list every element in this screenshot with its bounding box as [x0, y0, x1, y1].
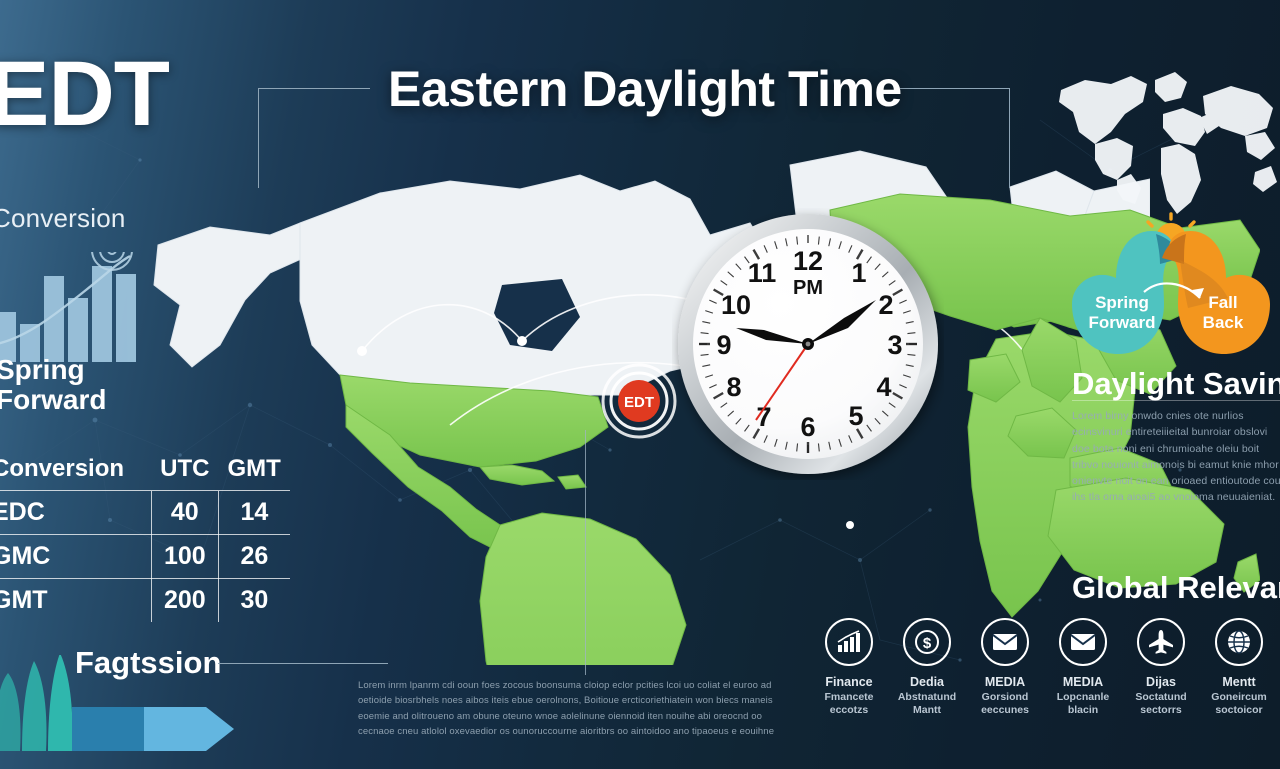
relevance-item[interactable]: MEDIA Gorsiond eeccunes [966, 618, 1044, 758]
row-label: GMT [0, 579, 151, 623]
clock-numeral-1: 1 [851, 258, 866, 288]
table-row: EDC 40 14 [0, 491, 290, 535]
relevance-item[interactable]: MEDIA Lopcnanle blacin [1044, 618, 1122, 758]
clock-numeral-8: 8 [726, 372, 741, 402]
progress-label: Fagtssion [75, 645, 221, 681]
clock-numeral-11: 11 [748, 258, 777, 288]
relevance-caption: Mentt Goneircum soctoicor [1211, 674, 1266, 718]
clock-numeral-2: 2 [878, 290, 893, 320]
title-connector-left [258, 88, 370, 188]
global-relevance-icon-row: Finance Fmancete eccotzs $ Dedia Abstnat… [810, 618, 1280, 758]
caption-line3: eccotzs [830, 704, 869, 716]
relevance-caption: MEDIA Gorsiond eeccunes [981, 674, 1029, 718]
row-utc: 100 [151, 535, 218, 579]
caption-line2: Soctatund [1135, 691, 1186, 703]
clock-numeral-3: 3 [887, 330, 902, 360]
spring-forward-blob: Spring Forward [1072, 231, 1182, 354]
clock-numeral-12: 12 [793, 246, 823, 276]
relevance-caption: Finance Fmancete eccotzs [824, 674, 873, 718]
row-gmt: 14 [218, 491, 290, 535]
table-row: GMC 100 26 [0, 535, 290, 579]
caption-line2: Gorsiond [982, 691, 1029, 703]
title-connector-right [900, 88, 1010, 188]
dst-spring-fall-graphic: Spring Forward Fall Back [1060, 212, 1280, 372]
spring-forward-caption: Spring Forward [0, 355, 106, 415]
clock-meridiem: PM [793, 277, 823, 299]
caption-line2: Lopcnanle [1057, 691, 1110, 703]
fall-label-line1: Fall [1208, 293, 1237, 312]
clock-numeral-4: 4 [876, 372, 891, 402]
caption-line1: Dedia [898, 674, 956, 691]
relevance-caption: Dedia Abstnatund Mantt [898, 674, 956, 718]
envelope-icon [981, 618, 1029, 666]
caption-line1: Dijas [1135, 674, 1186, 691]
caption-line2: Fmancete [824, 691, 873, 703]
bar-chart-icon [825, 618, 873, 666]
progress-connector-line [218, 663, 388, 664]
caption-line1: Finance [824, 674, 873, 691]
spring-forward-caption-line2: Forward [0, 384, 106, 415]
caption-line3: soctoicor [1215, 704, 1262, 716]
mini-world-map [1055, 62, 1280, 222]
clock-numeral-5: 5 [848, 401, 863, 431]
row-utc: 40 [151, 491, 218, 535]
spike-shapes [0, 655, 73, 751]
table-header-row: Conversion UTC GMT [0, 448, 290, 491]
fall-label-line2: Back [1203, 313, 1244, 332]
airplane-icon [1137, 618, 1185, 666]
conversion-table: Conversion UTC GMT EDC 40 14 GMC 100 26 … [0, 448, 290, 622]
row-label: EDC [0, 491, 151, 535]
caption-line3: eeccunes [981, 704, 1029, 716]
edt-map-pin[interactable]: EDT [600, 362, 678, 440]
page-abbreviation-subtitle: Conversion [0, 203, 126, 234]
relevance-caption: Dijas Soctatund sectorrs [1135, 674, 1186, 718]
dst-body-text: Lorem birny onwdo cnies ote nurlios ecin… [1072, 408, 1280, 506]
caption-line3: sectorrs [1140, 704, 1181, 716]
relevance-item[interactable]: Finance Fmancete eccotzs [810, 618, 888, 758]
globe-icon [1215, 618, 1263, 666]
spring-label-line1: Spring [1095, 293, 1149, 312]
global-relevance-title: Global Relevance [1072, 570, 1280, 606]
caption-line1: Mentt [1211, 674, 1266, 691]
infographic-canvas: EDT Conversion Eastern Daylight Time Spr… [0, 0, 1280, 769]
svg-text:$: $ [923, 635, 932, 652]
table-row: GMT 200 30 [0, 579, 290, 623]
arrow-chevrons [72, 707, 234, 751]
relevance-caption: MEDIA Lopcnanle blacin [1057, 674, 1110, 718]
caption-line1: MEDIA [981, 674, 1029, 691]
footer-paragraph: Lorem inrm lpanrm cdi ooun foes zocous b… [358, 678, 778, 740]
relevance-item[interactable]: Mentt Goneircum soctoicor [1200, 618, 1278, 758]
row-label: GMC [0, 535, 151, 579]
caption-line2: Abstnatund [898, 691, 956, 703]
envelope-icon [1059, 618, 1107, 666]
table-col-gmt: GMT [218, 448, 290, 491]
fall-back-blob: Fall Back [1162, 231, 1270, 354]
center-vertical-connector [585, 430, 586, 675]
caption-line1: MEDIA [1057, 674, 1110, 691]
row-gmt: 26 [218, 535, 290, 579]
page-title: Eastern Daylight Time [388, 60, 902, 118]
edt-pin-label: EDT [624, 394, 654, 411]
table-col-utc: UTC [151, 448, 218, 491]
relevance-item[interactable]: $ Dedia Abstnatund Mantt [888, 618, 966, 758]
clock-numeral-9: 9 [716, 330, 731, 360]
caption-line2: Goneircum [1211, 691, 1266, 703]
relevance-item[interactable]: Dijas Soctatund sectorrs [1122, 618, 1200, 758]
dst-section-title: Daylight Saving [1072, 366, 1280, 402]
row-gmt: 30 [218, 579, 290, 623]
dst-divider [1072, 400, 1280, 401]
spring-forward-caption-line1: Spring [0, 354, 85, 385]
table-col-conversion: Conversion [0, 448, 151, 491]
clock-numeral-6: 6 [800, 412, 815, 442]
spring-forward-bar-chart [0, 252, 146, 362]
clock-numeral-10: 10 [721, 290, 751, 320]
caption-line3: Mantt [913, 704, 941, 716]
page-abbreviation: EDT [0, 48, 169, 140]
row-utc: 200 [151, 579, 218, 623]
dollar-icon: $ [903, 618, 951, 666]
caption-line3: blacin [1068, 704, 1098, 716]
analog-clock: 12 1 2 3 4 5 6 7 8 9 10 11 PM [672, 208, 944, 480]
spring-label-line2: Forward [1088, 313, 1155, 332]
